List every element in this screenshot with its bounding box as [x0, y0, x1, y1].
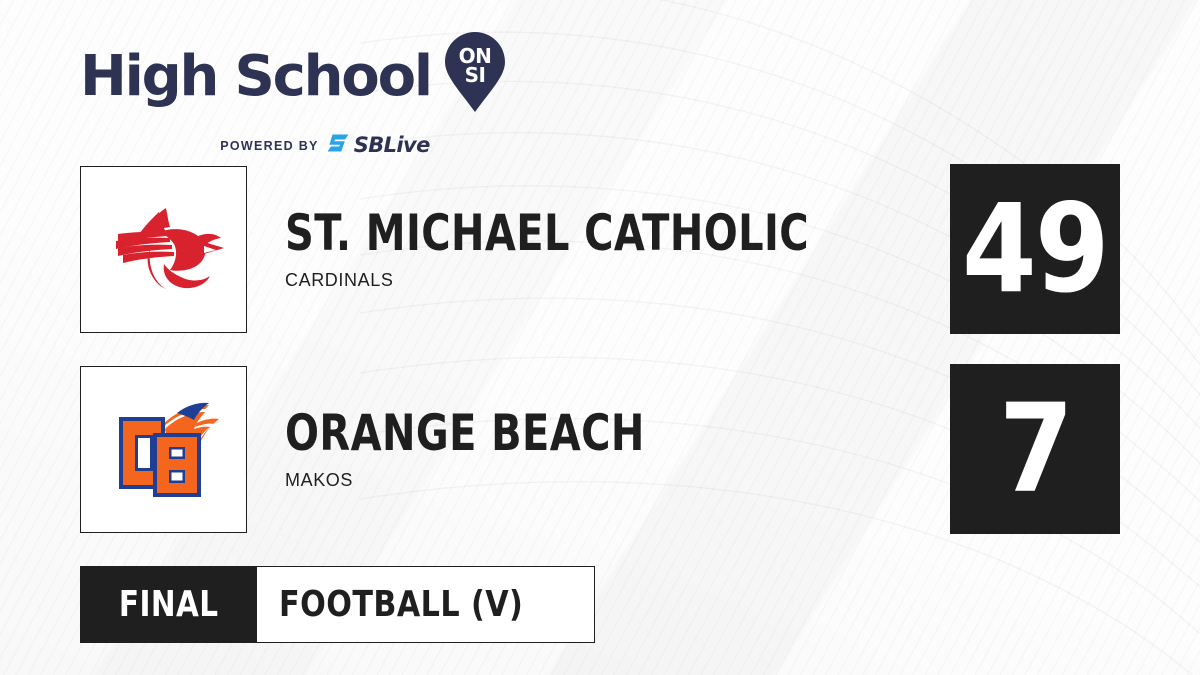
game-status-bar: FINAL FOOTBALL (V): [80, 566, 595, 643]
brand-header: High School ON SI POWERED BY SBLive: [80, 32, 510, 132]
team-row-home: ST. MICHAEL CATHOLIC CARDINALS 49: [80, 164, 1120, 334]
powered-by-label: POWERED BY: [220, 139, 318, 153]
team-name: ORANGE BEACH: [285, 408, 817, 458]
sblive-lockup: SBLive: [328, 133, 430, 158]
team-score: 7: [999, 388, 1072, 510]
pin-text-si: SI: [464, 63, 485, 87]
brand-logo-row: High School ON SI: [80, 32, 510, 121]
status-badge-label: FINAL: [119, 584, 219, 625]
team-row-away: ORANGE BEACH MAKOS 7: [80, 364, 1120, 534]
team-logo-card: [80, 166, 247, 333]
scoreboard-graphic: High School ON SI POWERED BY SBLive: [0, 0, 1200, 675]
sblive-wordmark: SBLive: [354, 135, 430, 156]
orange-beach-makos-ob-logo-icon: [105, 391, 223, 508]
team-score: 49: [962, 188, 1108, 310]
team-score-box: 7: [950, 364, 1120, 534]
team-score-box: 49: [950, 164, 1120, 334]
team-info: ORANGE BEACH MAKOS: [247, 408, 950, 491]
status-badge: FINAL: [80, 566, 257, 643]
team-mascot: CARDINALS: [285, 270, 950, 291]
team-logo-card: [80, 366, 247, 533]
team-mascot: MAKOS: [285, 470, 950, 491]
sport-label: FOOTBALL (V): [279, 584, 523, 625]
sblive-s-mark-icon: [328, 133, 350, 158]
brand-title: High School: [80, 49, 431, 105]
team-info: ST. MICHAEL CATHOLIC CARDINALS: [247, 208, 950, 291]
on-si-pin-icon: ON SI: [445, 32, 505, 117]
sport-label-panel: FOOTBALL (V): [257, 566, 595, 643]
powered-by-row: POWERED BY SBLive: [80, 133, 510, 158]
st-michael-catholic-cardinal-logo-icon: [104, 192, 224, 307]
team-name: ST. MICHAEL CATHOLIC: [285, 208, 817, 258]
